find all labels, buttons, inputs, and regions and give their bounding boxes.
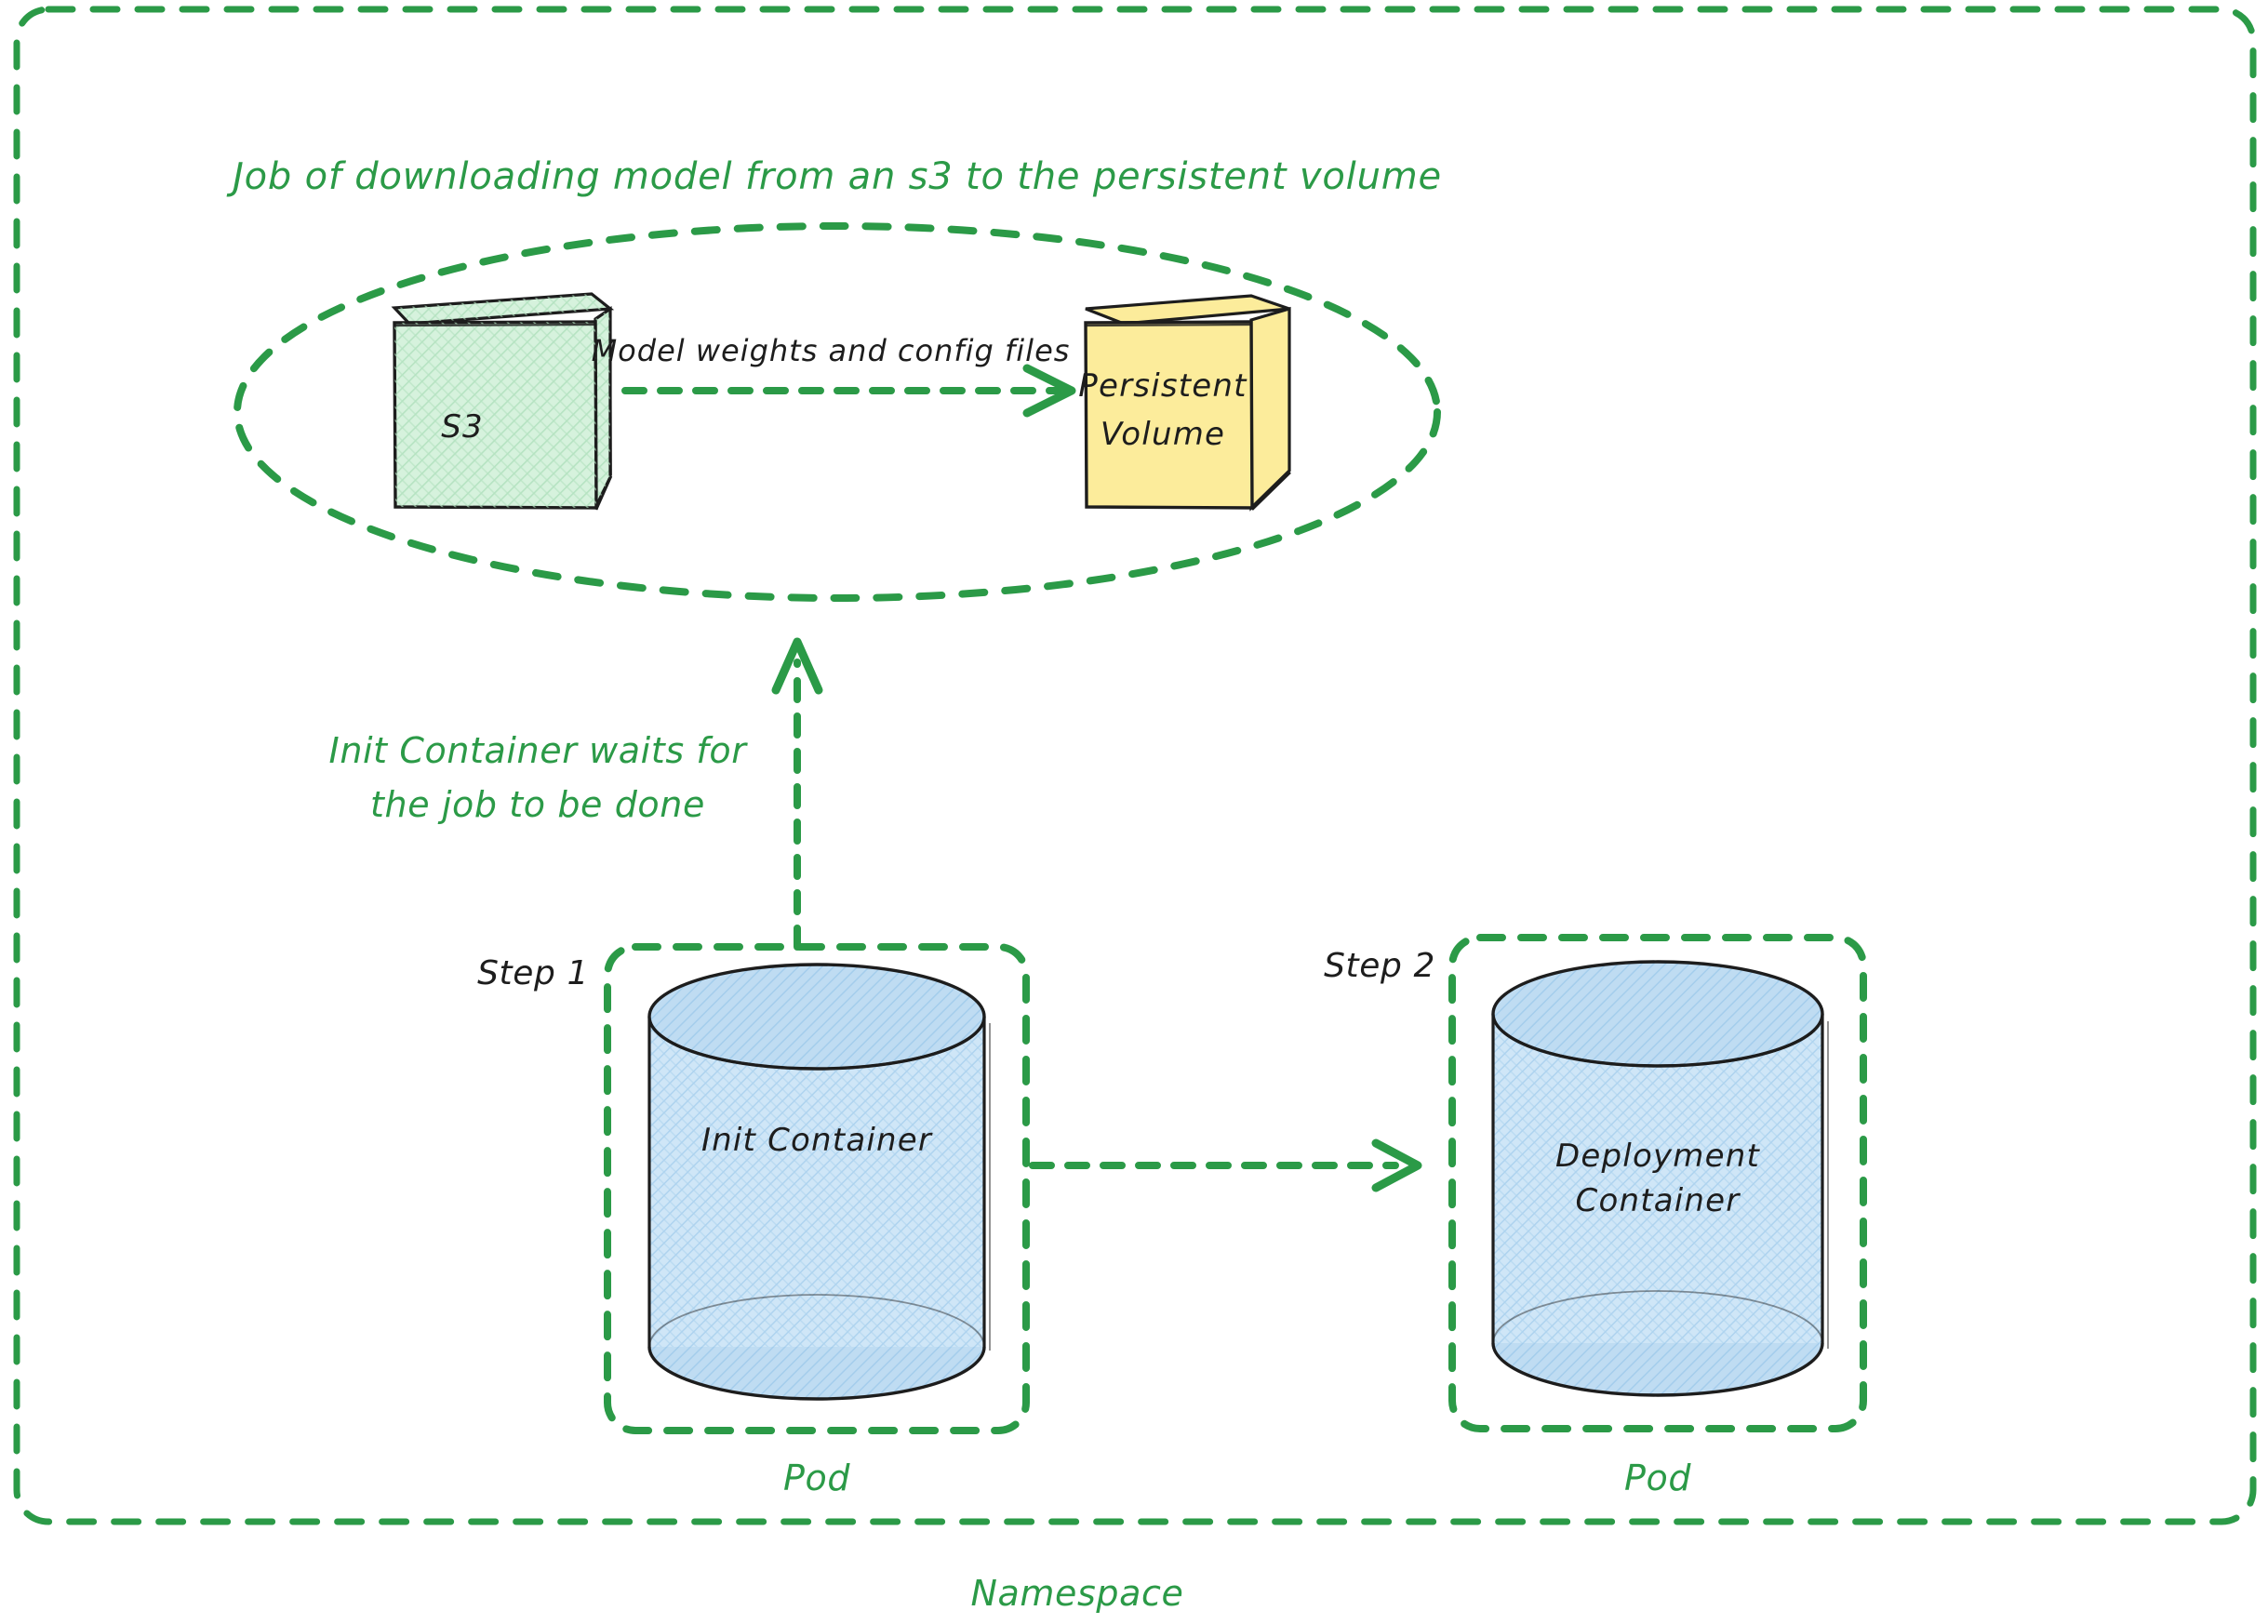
- deployment-container-label-line2: Container: [1576, 1182, 1741, 1219]
- init-container-label: Init Container: [701, 1122, 933, 1159]
- deployment-container-label-line1: Deployment: [1555, 1138, 1760, 1175]
- diagram-canvas: Job of downloading model from an s3 to t…: [0, 0, 2268, 1624]
- persistent-volume-label-line2: Volume: [1101, 416, 1225, 453]
- diagram-text-layer: Job of downloading model from an s3 to t…: [0, 0, 2268, 1624]
- persistent-volume-label-line1: Persistent: [1078, 367, 1247, 405]
- step-2-label: Step 2: [1324, 947, 1435, 985]
- job-title-label: Job of downloading model from an s3 to t…: [226, 155, 1442, 198]
- edge-s3-to-pv-label: Model weights and config files: [592, 333, 1071, 368]
- step-1-label: Step 1: [477, 954, 589, 992]
- pod-left-label: Pod: [783, 1458, 850, 1498]
- namespace-label: Namespace: [971, 1573, 1184, 1614]
- pod-right-label: Pod: [1624, 1458, 1691, 1498]
- s3-label: S3: [441, 408, 484, 446]
- edge-init-to-job-label-line1: Init Container waits for: [329, 730, 749, 771]
- edge-init-to-job-label-line2: the job to be done: [370, 784, 705, 825]
